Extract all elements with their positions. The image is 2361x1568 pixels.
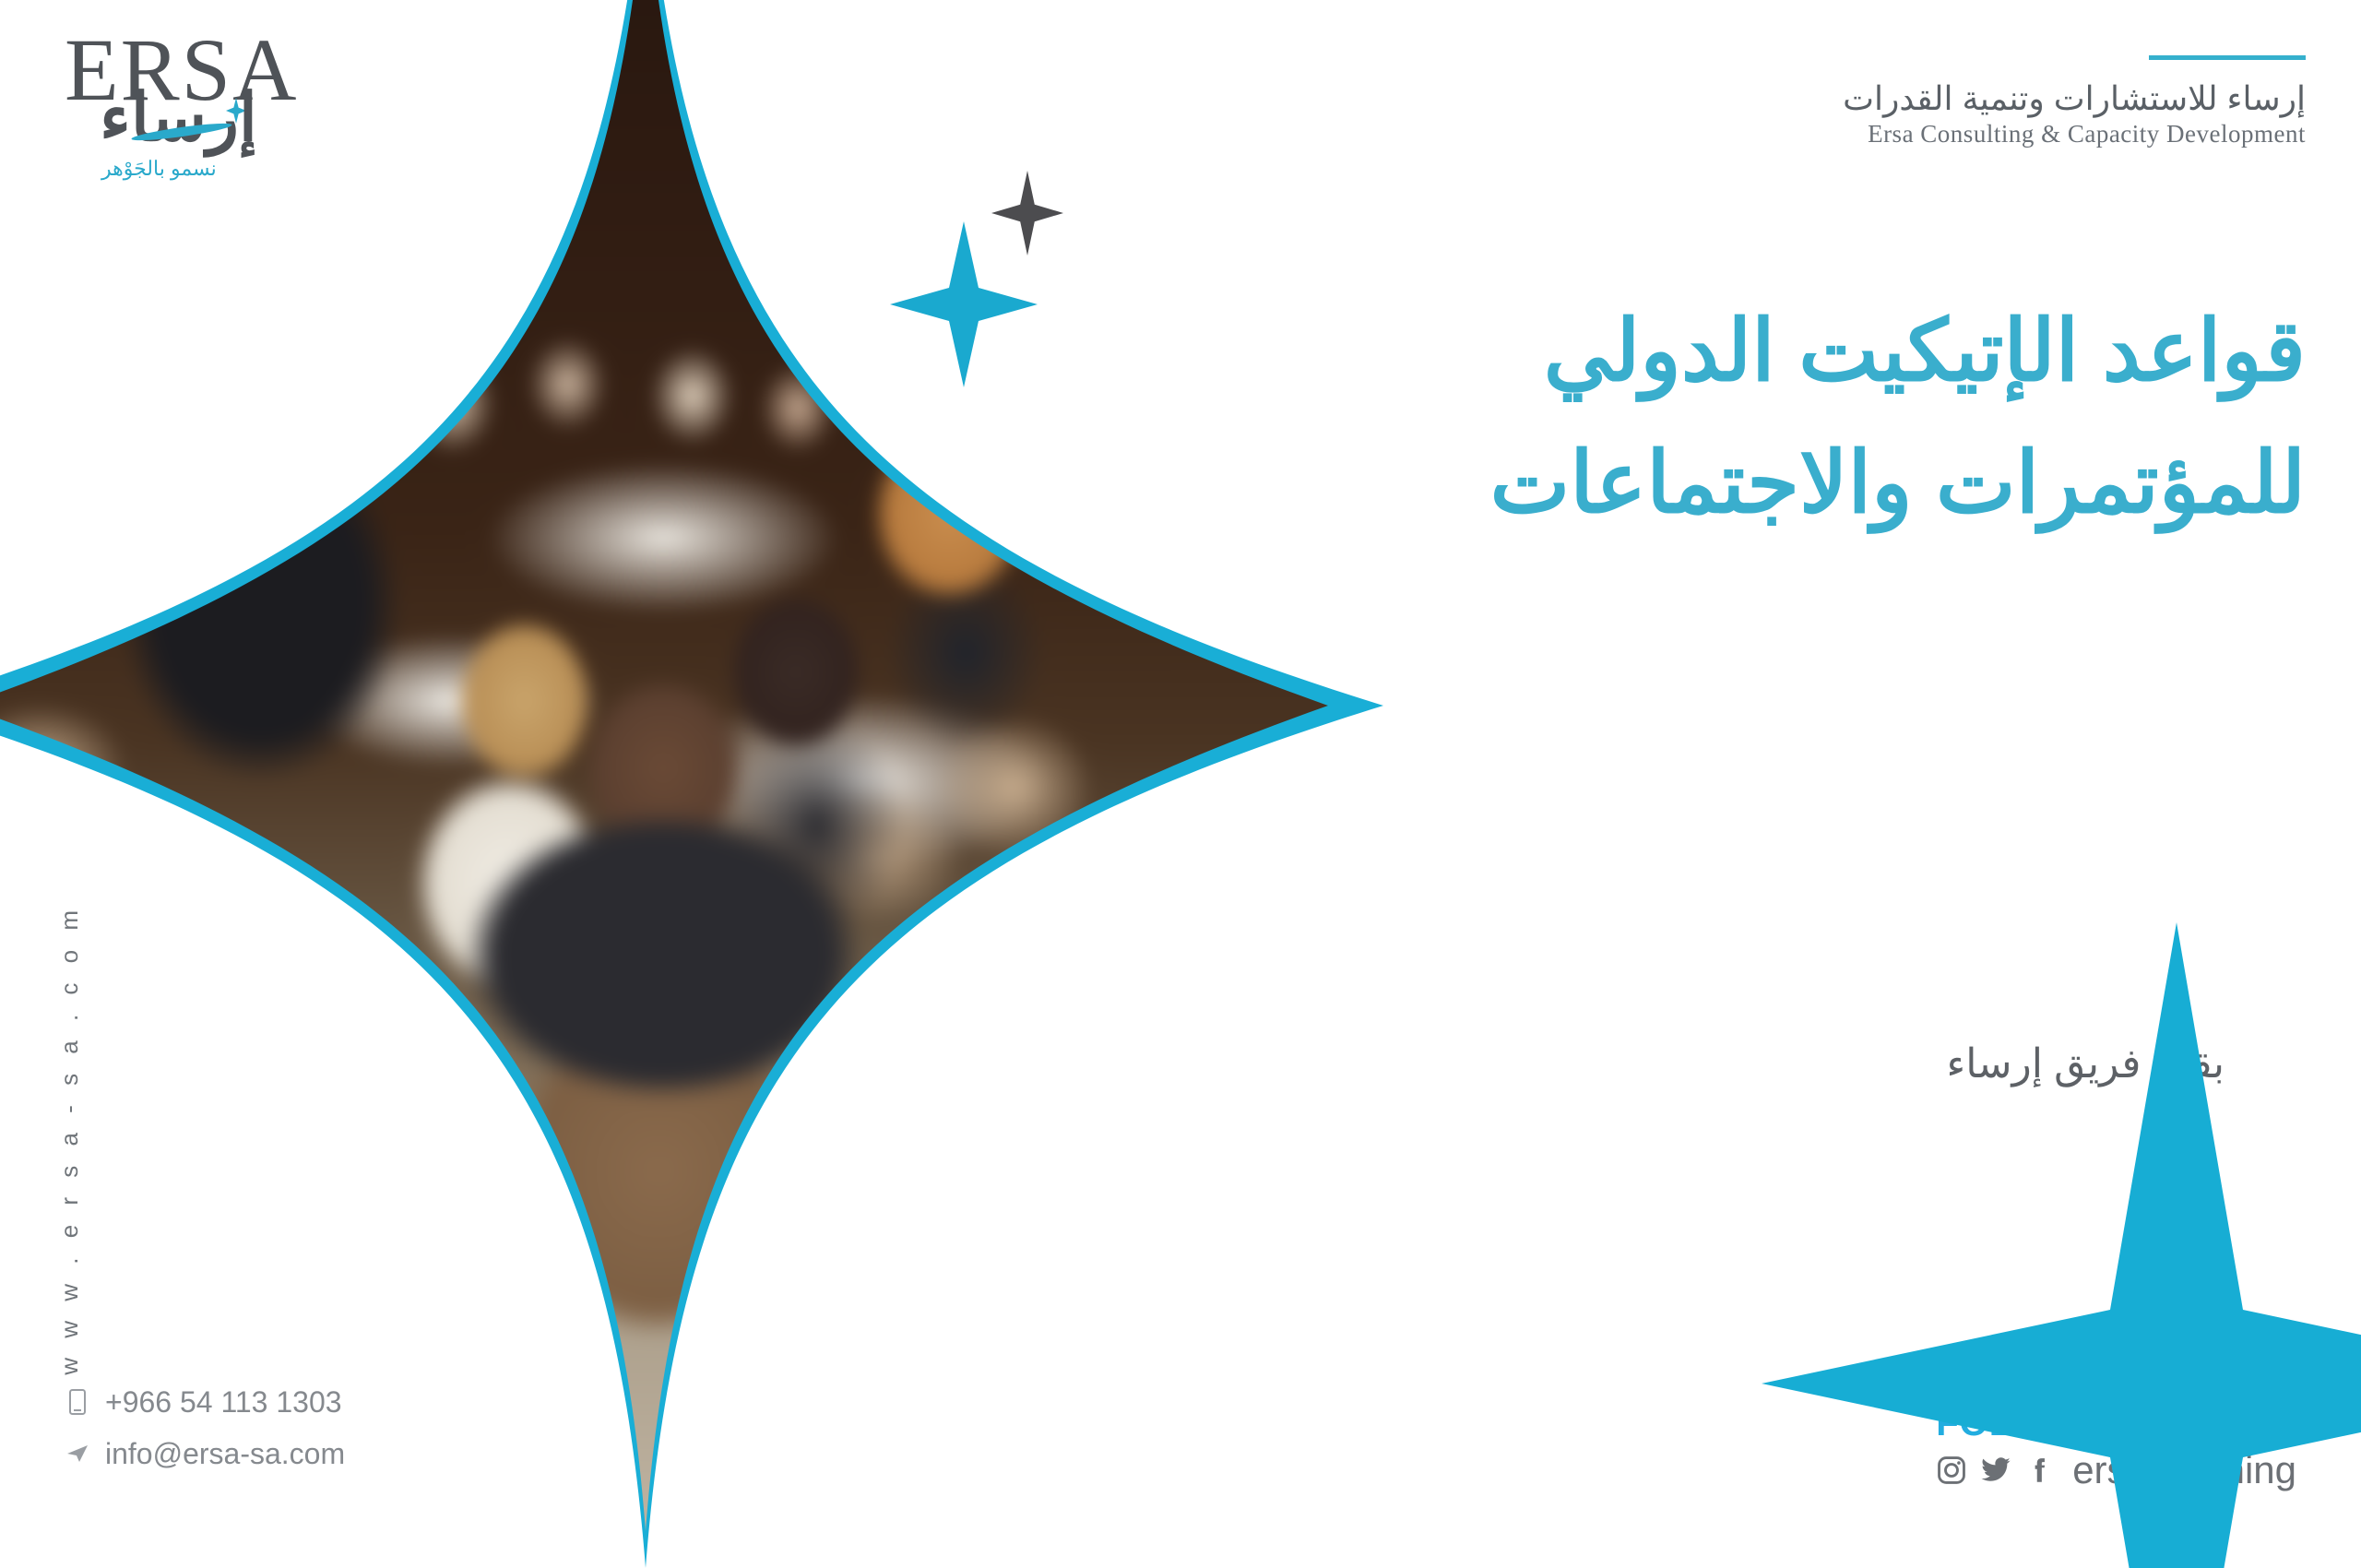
contact-phone-row[interactable]: +966 54 113 1303: [66, 1376, 345, 1428]
mobile-phone-icon: [66, 1388, 89, 1416]
facebook-icon[interactable]: [2024, 1455, 2056, 1486]
page-title: قواعد الإتيكيت الدولي للمؤتمرات والاجتما…: [1014, 286, 2306, 549]
brand-name-arabic: إرساء للاستشارات وتنمية القدرات: [1843, 78, 2306, 118]
page-title-line-2: للمؤتمرات والاجتماعات: [1014, 418, 2306, 550]
paper-plane-icon: [66, 1440, 89, 1467]
contact-phone-text: +966 54 113 1303: [105, 1376, 342, 1428]
contact-email-text: info@ersa-sa.com: [105, 1428, 345, 1479]
page-title-line-1: قواعد الإتيكيت الدولي: [1014, 286, 2306, 418]
website-url-vertical: w w w . e r s a - s a . c o m: [55, 904, 84, 1375]
photo-star-mask: [0, 0, 1596, 1568]
hero-photo-star: [0, 0, 1596, 1568]
contact-block: +966 54 113 1303 info@ersa-sa.com: [66, 1376, 345, 1479]
poster-canvas: ERSA إرساء نسمو بالجَوْهر إرساء للاستشار…: [0, 0, 2361, 1568]
instagram-icon[interactable]: [1936, 1455, 1967, 1486]
conference-audience-photo: [0, 0, 1596, 1568]
twitter-icon[interactable]: [1980, 1455, 2011, 1486]
brand-accent-rule: [2149, 55, 2306, 60]
brand-header: إرساء للاستشارات وتنمية القدرات Ersa Con…: [1843, 55, 2306, 148]
contact-email-row[interactable]: info@ersa-sa.com: [66, 1428, 345, 1479]
brand-name-english: Ersa Consulting & Capacity Development: [1843, 120, 2306, 148]
